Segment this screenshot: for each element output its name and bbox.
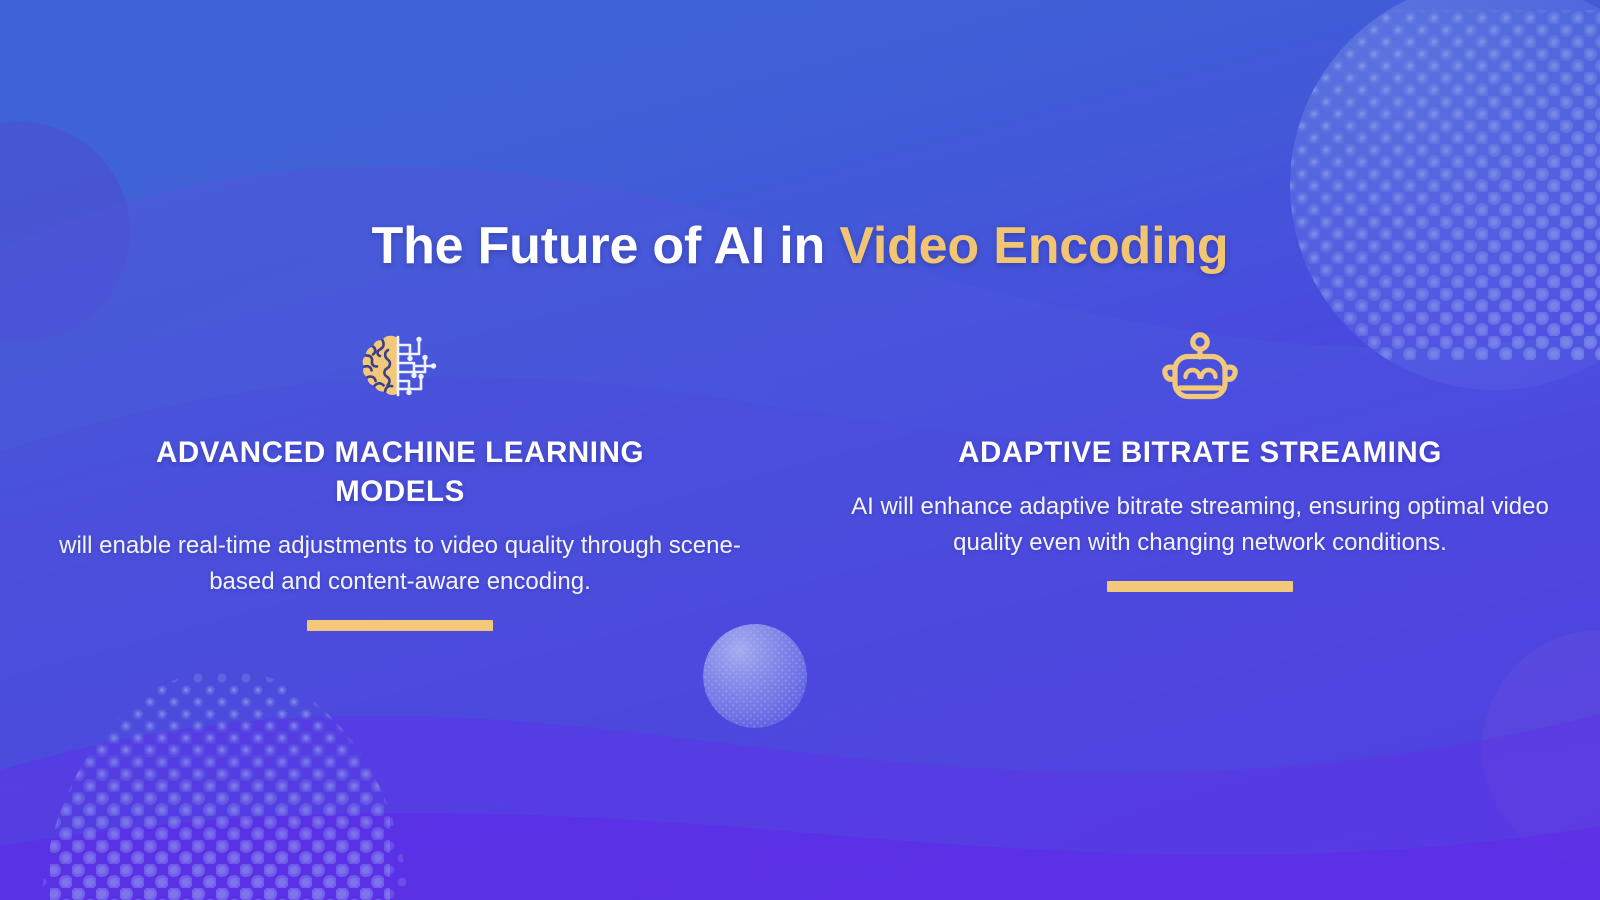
- slide-canvas: The Future of AI in Video Encoding: [0, 0, 1600, 900]
- ai-brain-circuit-icon: [357, 332, 443, 408]
- feature-body: will enable real-time adjustments to vid…: [55, 528, 745, 600]
- robot-head-icon: [1157, 332, 1243, 408]
- feature-body: AI will enhance adaptive bitrate streami…: [845, 489, 1555, 561]
- feature-columns: ADVANCED MACHINE LEARNING MODELS will en…: [0, 332, 1600, 631]
- feature-card-adaptive-bitrate: ADAPTIVE BITRATE STREAMING AI will enhan…: [800, 332, 1600, 631]
- page-title-plain: The Future of AI in: [372, 217, 840, 275]
- feature-heading: ADAPTIVE BITRATE STREAMING: [958, 434, 1442, 473]
- page-title: The Future of AI in Video Encoding: [0, 216, 1600, 276]
- feature-heading: ADVANCED MACHINE LEARNING MODELS: [120, 434, 680, 512]
- accent-underline-bar: [1107, 581, 1293, 592]
- page-title-accent: Video Encoding: [839, 217, 1228, 275]
- feature-card-advanced-ml: ADVANCED MACHINE LEARNING MODELS will en…: [0, 332, 800, 631]
- accent-underline-bar: [307, 620, 493, 631]
